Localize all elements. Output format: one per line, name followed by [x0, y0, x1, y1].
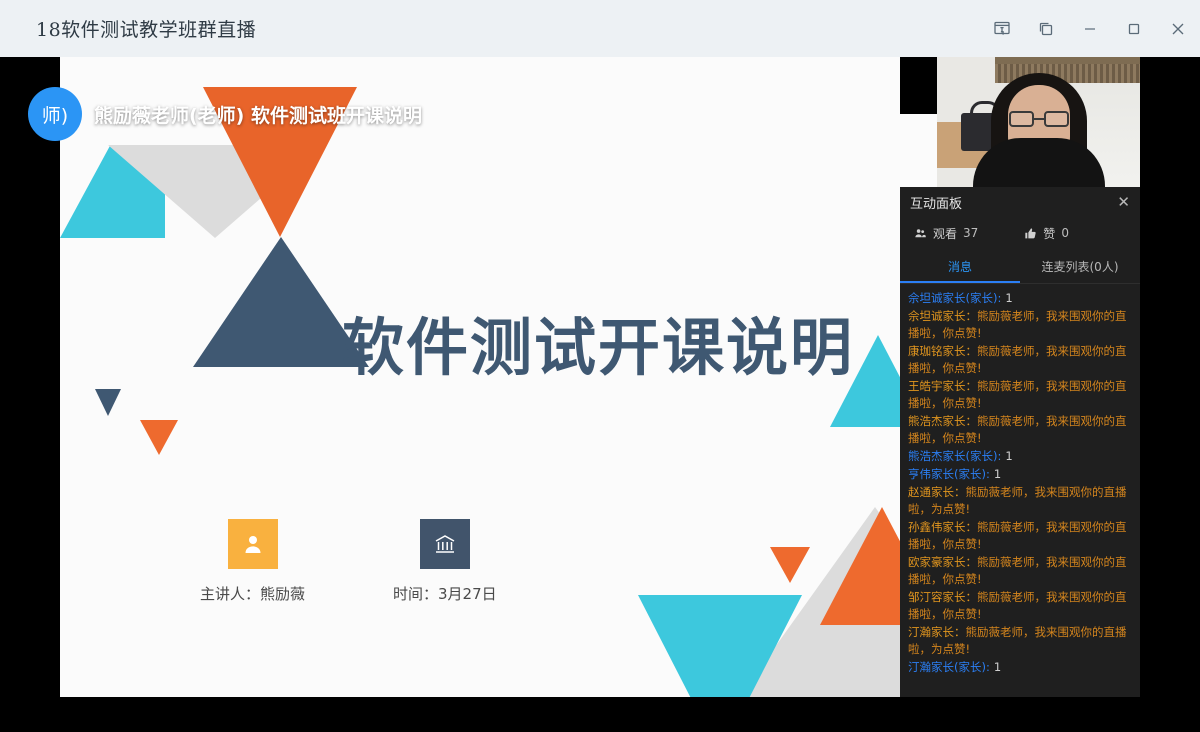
presenter-webcam[interactable] — [937, 57, 1140, 190]
join-message: 熊浩杰家长(家长):1 — [908, 448, 1132, 465]
viewer-count: 观看 37 — [914, 225, 978, 242]
restore-windows-icon[interactable] — [1024, 0, 1068, 57]
slide-info-presenter: 主讲人：熊励薇 — [200, 519, 305, 604]
message-list[interactable]: 佘坦诚家长(家长):1佘坦诚家长：熊励薇老师，我来围观你的直播啦，你点赞!康珈铭… — [900, 284, 1140, 722]
stage-top-mask — [900, 57, 937, 114]
presenter-name: 熊励薇老师(老师) 软件测试班开课说明 — [94, 101, 422, 128]
chat-message: 欧家豪家长：熊励薇老师，我来围观你的直播啦，你点赞! — [908, 554, 1132, 588]
slide-info-time-label: 时间：3月27日 — [393, 583, 497, 604]
panel-tabs: 消息 连麦列表(0人) — [900, 249, 1140, 283]
viewer-number: 37 — [963, 226, 978, 240]
bank-icon — [420, 519, 470, 569]
glasses-icon — [1009, 111, 1069, 127]
webcam-valance-top — [995, 57, 1140, 64]
tab-messages[interactable]: 消息 — [900, 249, 1020, 283]
interaction-panel-header: 互动面板 ✕ — [900, 187, 1140, 217]
message-sender: 佘坦诚家长： — [908, 309, 977, 323]
message-sender: 王皓宇家长： — [908, 379, 977, 393]
message-count: 1 — [1001, 449, 1012, 463]
window-controls — [980, 0, 1200, 57]
message-sender: 孙鑫伟家长： — [908, 520, 977, 534]
window-title: 18软件测试教学班群直播 — [36, 15, 256, 42]
close-icon[interactable] — [1156, 0, 1200, 57]
message-sender: 欧家豪家长： — [908, 555, 977, 569]
slide-info-presenter-label: 主讲人：熊励薇 — [200, 583, 305, 604]
message-count: 1 — [990, 467, 1001, 481]
chat-message: 赵通家长：熊励薇老师，我来围观你的直播啦，为点赞! — [908, 484, 1132, 518]
message-count: 1 — [990, 660, 1001, 674]
person-icon — [228, 519, 278, 569]
close-icon[interactable]: ✕ — [1117, 195, 1130, 210]
chat-message: 孙鑫伟家长：熊励薇老师，我来围观你的直播啦，你点赞! — [908, 519, 1132, 553]
message-sender: 汀瀚家长(家长): — [908, 660, 990, 674]
live-stage: 软件测试开课说明 主讲人：熊励薇 — [0, 57, 1200, 732]
like-number: 0 — [1061, 226, 1069, 240]
message-sender: 汀瀚家长： — [908, 625, 966, 639]
pin-window-icon[interactable] — [980, 0, 1024, 57]
message-sender: 佘坦诚家长(家长): — [908, 291, 1001, 305]
title-bar: 18软件测试教学班群直播 — [0, 0, 1200, 57]
chat-message: 汀瀚家长：熊励薇老师，我来围观你的直播啦，为点赞! — [908, 624, 1132, 658]
like-label: 赞 — [1043, 225, 1055, 242]
app-window: 18软件测试教学班群直播 — [0, 0, 1200, 732]
chat-message: 佘坦诚家长：熊励薇老师，我来围观你的直播啦，你点赞! — [908, 308, 1132, 342]
message-sender: 熊浩杰家长： — [908, 414, 977, 428]
interaction-panel-title: 互动面板 — [910, 193, 962, 212]
chat-message: 王皓宇家长：熊励薇老师，我来围观你的直播啦，你点赞! — [908, 378, 1132, 412]
presenter-overlay: 师) 熊励薇老师(老师) 软件测试班开课说明 — [28, 87, 422, 141]
like-count: 赞 0 — [1024, 225, 1069, 242]
decor-navy-triangle-small — [95, 389, 121, 416]
slide-info-group: 主讲人：熊励薇 时间：3月27日 — [200, 519, 497, 604]
stage-bottom-letterbox — [0, 697, 1200, 732]
viewers-icon — [914, 227, 927, 240]
avatar: 师) — [28, 87, 82, 141]
message-sender: 赵通家长： — [908, 485, 966, 499]
maximize-icon[interactable] — [1112, 0, 1156, 57]
panel-stats: 观看 37 赞 0 — [900, 217, 1140, 249]
slide-title: 软件测试开课说明 — [318, 297, 878, 387]
interaction-panel: 互动面板 ✕ 观看 37 赞 — [900, 187, 1140, 722]
message-sender: 亨伟家长(家长): — [908, 467, 990, 481]
message-sender: 邹汀容家长： — [908, 590, 977, 604]
minimize-icon[interactable] — [1068, 0, 1112, 57]
decor-orange-triangle-small — [140, 420, 178, 455]
stage-left-letterbox — [0, 57, 60, 732]
chat-message: 康珈铭家长：熊励薇老师，我来围观你的直播啦，你点赞! — [908, 343, 1132, 377]
join-message: 佘坦诚家长(家长):1 — [908, 290, 1132, 307]
message-count: 1 — [1001, 291, 1012, 305]
join-message: 亨伟家长(家长):1 — [908, 466, 1132, 483]
tab-mic-list[interactable]: 连麦列表(0人) — [1020, 249, 1140, 283]
tab-active-underline — [900, 281, 1020, 283]
message-sender: 康珈铭家长： — [908, 344, 977, 358]
decor-cyan-triangle-bottom — [638, 595, 802, 697]
slide-info-time: 时间：3月27日 — [393, 519, 497, 604]
chat-message: 邹汀容家长：熊励薇老师，我来围观你的直播啦，你点赞! — [908, 589, 1132, 623]
thumbs-up-icon — [1024, 227, 1037, 240]
stage-right-letterbox — [1140, 57, 1200, 732]
message-sender: 熊浩杰家长(家长): — [908, 449, 1001, 463]
chat-message: 熊浩杰家长：熊励薇老师，我来围观你的直播啦，你点赞! — [908, 413, 1132, 447]
viewer-label: 观看 — [933, 225, 957, 242]
join-message: 汀瀚家长(家长):1 — [908, 659, 1132, 676]
